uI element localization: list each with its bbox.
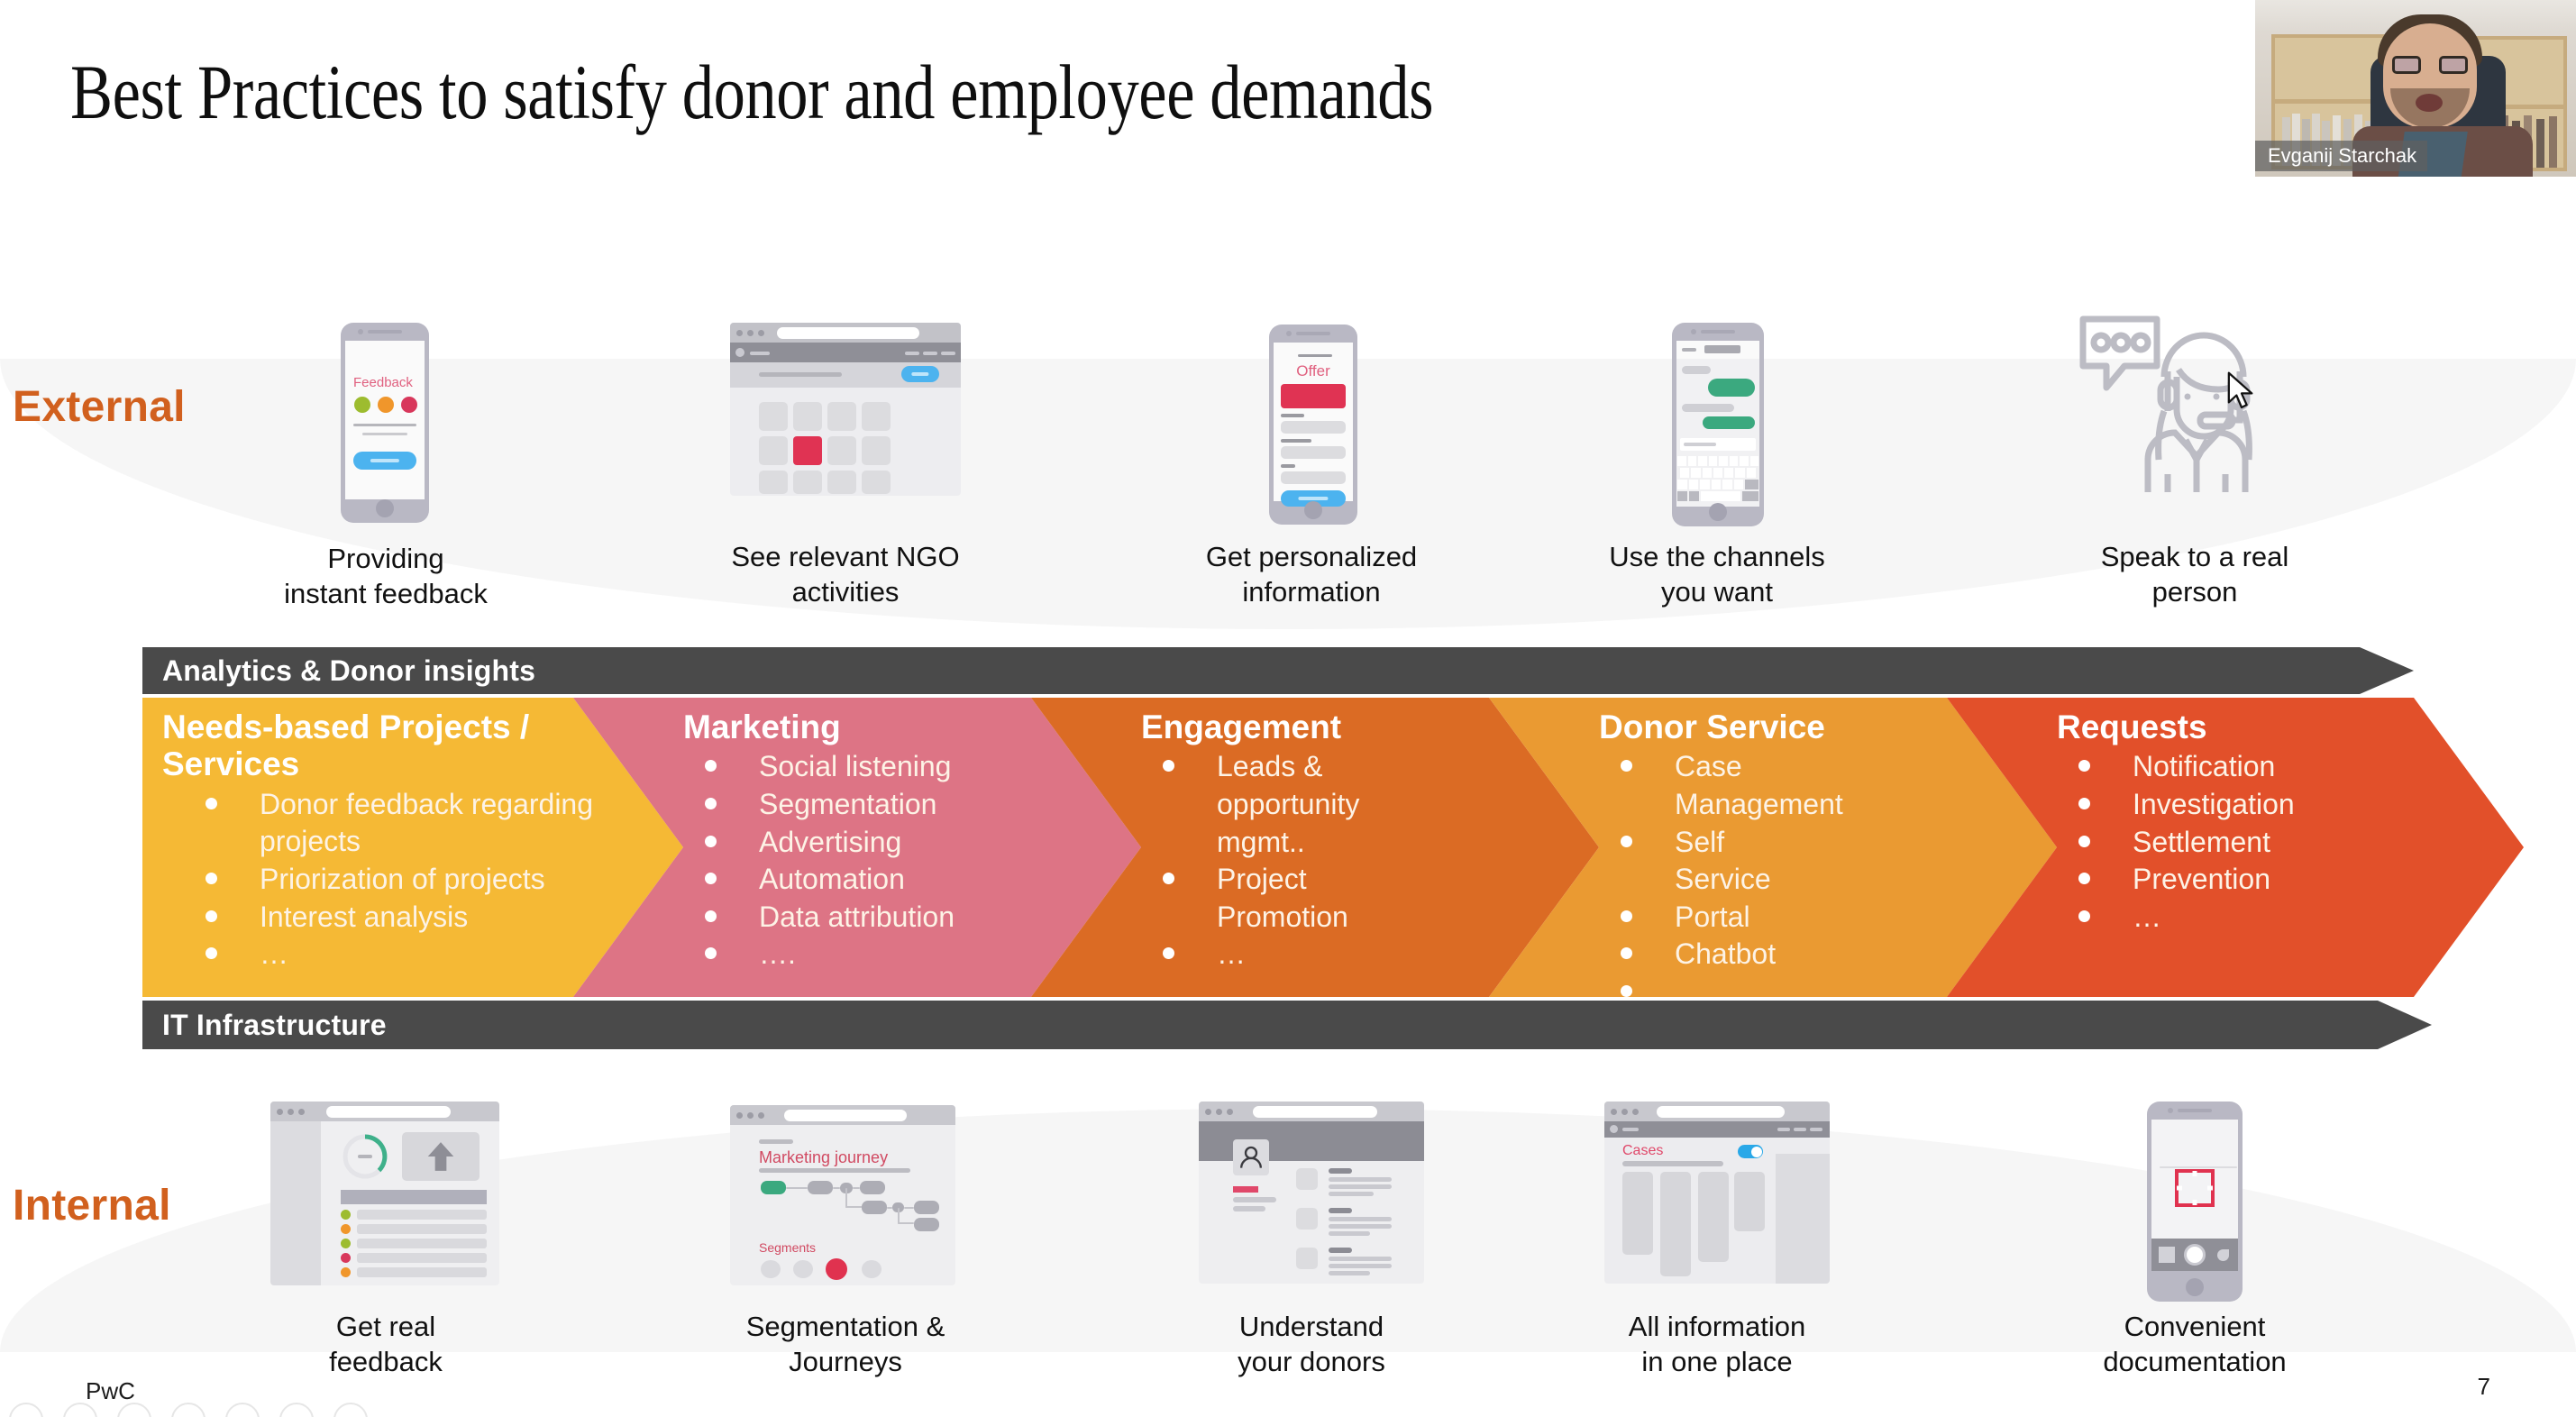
chevron-stage-2-list: Social listening Segmentation Advertisin… [593,748,1141,974]
journey-screen-title: Marketing journey [759,1148,888,1167]
list-item: Donor feedback regarding projects [206,786,683,861]
segment-chip-active [826,1258,847,1280]
zoom-icon[interactable] [225,1403,260,1417]
list-item: Project Promotion [1163,861,1411,936]
warning-icon [341,1224,351,1234]
segment-chip [862,1260,882,1278]
list-item: Segmentation [705,786,1141,824]
warning-icon [378,397,394,413]
journey-node [808,1181,833,1194]
cases-screen-title: Cases [1622,1143,1663,1159]
flash-icon [2217,1249,2229,1261]
chevron-stage-1-title: Needs-based Projects / Services [162,708,559,783]
caption-use-the-channels-you-want: Use the channels you want [1528,539,1906,610]
list-item: Interest analysis [206,899,683,937]
keyboard-mock [1677,456,1758,505]
band-top-bar-tip [2360,647,2414,694]
support-agent-icon [2078,306,2294,496]
browser-frame: Marketing journey Segments [730,1105,955,1285]
offer-screen-title: Offer [1269,362,1357,380]
shutter-button[interactable] [2184,1244,2206,1266]
caption-icon[interactable] [279,1403,314,1417]
check-icon [341,1239,351,1248]
profile-accent-line [1233,1186,1258,1193]
browser-frame [1199,1102,1424,1284]
webcam-participant-name: Evganij Starchak [2255,141,2427,171]
user-icon [1233,1139,1269,1175]
list-item: Data attribution [705,899,1141,937]
browser-frame [270,1102,499,1285]
caption-understand-your-donors: Understand your donors [1122,1309,1501,1380]
gallery-thumb [2159,1247,2175,1263]
caption-get-real-feedback: Get real feedback [196,1309,575,1380]
brand-logo-pwc: PwC [86,1377,135,1405]
cta-button-mock [901,366,939,382]
bar-column [1622,1172,1653,1255]
avatar [1233,1139,1269,1175]
list-item: Portal [1621,899,1806,937]
journey-node [914,1201,939,1214]
chevron-stage-1-list: Donor feedback regarding projects Priori… [162,786,683,974]
camera-toolbar [2151,1239,2238,1271]
person-mouth [2416,94,2443,112]
caption-convenient-documentation: Convenient documentation [2005,1309,2384,1380]
journey-node [914,1218,939,1231]
check-icon [354,397,370,413]
offer-banner [1281,384,1346,408]
list-item: Priorization of projects [206,861,683,899]
close-icon [401,397,417,413]
eyeglasses-icon [2392,56,2468,74]
next-slide-icon[interactable] [63,1403,97,1417]
caption-speak-to-a-real-person: Speak to a real person [2005,539,2384,610]
band-bottom-bar: IT Infrastructure [142,1001,2378,1049]
close-icon [341,1253,351,1263]
mouse-cursor [2226,371,2257,413]
bar-column [1660,1172,1691,1276]
list-item: Automation [705,861,1141,899]
segments-label: Segments [759,1240,816,1255]
webcam-video-overlay[interactable]: Evganij Starchak [2253,0,2576,178]
icon-browser-cases: Cases [1604,1102,1830,1284]
segment-chip [761,1260,781,1278]
icon-phone-offer: Offer [1269,325,1357,525]
sidebar-mock [270,1121,321,1285]
list-item: Leads & opportunity mgmt.. [1163,748,1411,861]
cases-sidepanel [1776,1154,1830,1284]
icon-phone-feedback: Feedback [341,323,429,523]
chevron-stage-1[interactable]: Needs-based Projects / Services Donor fe… [142,698,683,997]
caption-providing-instant-feedback: Providing instant feedback [196,541,575,612]
process-band: Analytics & Donor insights Needs-based P… [142,647,2504,1071]
segment-chip [793,1260,813,1278]
caption-all-information-in-one-place: All information in one place [1528,1309,1906,1380]
row-label-external: External [13,382,186,432]
page-number: 7 [2478,1373,2490,1401]
icon-phone-chat [1672,323,1764,526]
chat-bubble-outgoing [1708,379,1755,397]
warning-icon [341,1267,351,1277]
gauge-icon [341,1132,389,1181]
feedback-screen-title: Feedback [353,375,413,390]
caption-see-relevant-ngo-activities: See relevant NGO activities [656,539,1035,610]
chat-bubble-outgoing [1703,416,1755,429]
list-item: Prevention [2078,861,2524,899]
icon-phone-camera [2147,1102,2243,1302]
submit-button-mock [353,452,416,470]
journey-node [860,1181,885,1194]
icon-browser-profile [1199,1102,1424,1284]
chevron-stage-5-title: Requests [1967,708,2524,745]
highlighted-tile [793,436,822,465]
icon-browser-dashboard [270,1102,499,1285]
caption-get-personalized-information: Get personalized information [1122,539,1501,610]
list-item: Self Service [1621,824,1806,899]
journey-node-start [761,1181,786,1194]
slide-root: Best Practices to satisfy donor and empl… [0,0,2576,1417]
slides-grid-icon[interactable] [171,1403,206,1417]
previous-slide-icon[interactable] [9,1403,43,1417]
icon-browser-journey: Marketing journey Segments [730,1105,955,1285]
list-item: Case Management [1621,748,1806,823]
list-item: Investigation [2078,786,2524,824]
more-options-icon[interactable] [333,1403,368,1417]
bar-column [1734,1172,1765,1231]
arrow-up-icon [424,1139,458,1174]
list-item: … [2078,899,2524,937]
toggle-switch[interactable] [1738,1145,1763,1158]
list-item: Chatbot [1621,936,1806,974]
page-title: Best Practices to satisfy donor and empl… [70,47,1433,137]
browser-frame: Cases [1604,1102,1830,1284]
band-bottom-bar-tip [2378,1001,2432,1049]
browser-frame [730,323,961,496]
icon-support-agent [2078,306,2294,500]
pen-icon[interactable] [117,1403,151,1417]
presentation-toolbar[interactable] [9,1403,368,1417]
phone-frame: Offer [1269,325,1357,525]
row-label-internal: Internal [13,1181,171,1230]
band-top-bar: Analytics & Donor insights [142,647,2360,694]
phone-frame [2147,1102,2243,1302]
check-icon [341,1210,351,1220]
bar-column [1698,1172,1729,1262]
icon-browser-grid [730,323,961,496]
list-item: Notification [2078,748,2524,786]
list-item: Advertising [705,824,1141,862]
phone-frame [1672,323,1764,526]
process-chevrons: Needs-based Projects / Services Donor fe… [142,698,2432,997]
list-item: … [1163,936,1411,974]
scan-frame-icon [2174,1168,2215,1208]
journey-node [862,1201,887,1214]
list-item: Settlement [2078,824,2524,862]
phone-frame: Feedback [341,323,429,523]
table-header-mock [341,1190,487,1204]
caption-segmentation-journeys: Segmentation & Journeys [656,1309,1035,1380]
